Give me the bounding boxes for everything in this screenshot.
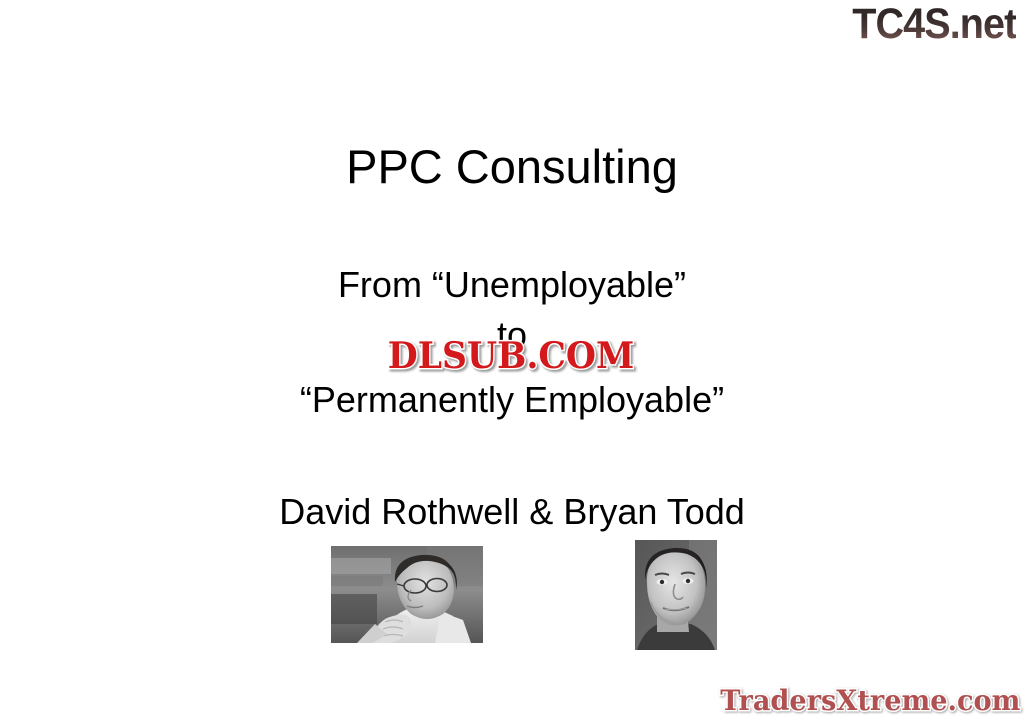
presentation-slide: TC4S.net PPC Consulting From “Unemployab… xyxy=(0,0,1024,724)
portrait-bryan-todd-image xyxy=(635,540,717,650)
slide-authors: David Rothwell & Bryan Todd xyxy=(0,492,1024,532)
slide-subtitle-line-1: From “Unemployable” xyxy=(0,265,1024,305)
slide-subtitle-line-3: “Permanently Employable” xyxy=(0,380,1024,420)
tradersxtreme-com-watermark: TradersXtreme.com xyxy=(720,686,1020,716)
portrait-photo-right xyxy=(635,540,717,650)
tc4s-net-watermark: TC4S.net xyxy=(852,2,1016,46)
slide-title: PPC Consulting xyxy=(0,141,1024,193)
dlsub-com-watermark: DLSUB.COM xyxy=(370,333,652,379)
portrait-david-rothwell-image xyxy=(331,546,483,643)
portrait-photo-left xyxy=(331,546,483,643)
